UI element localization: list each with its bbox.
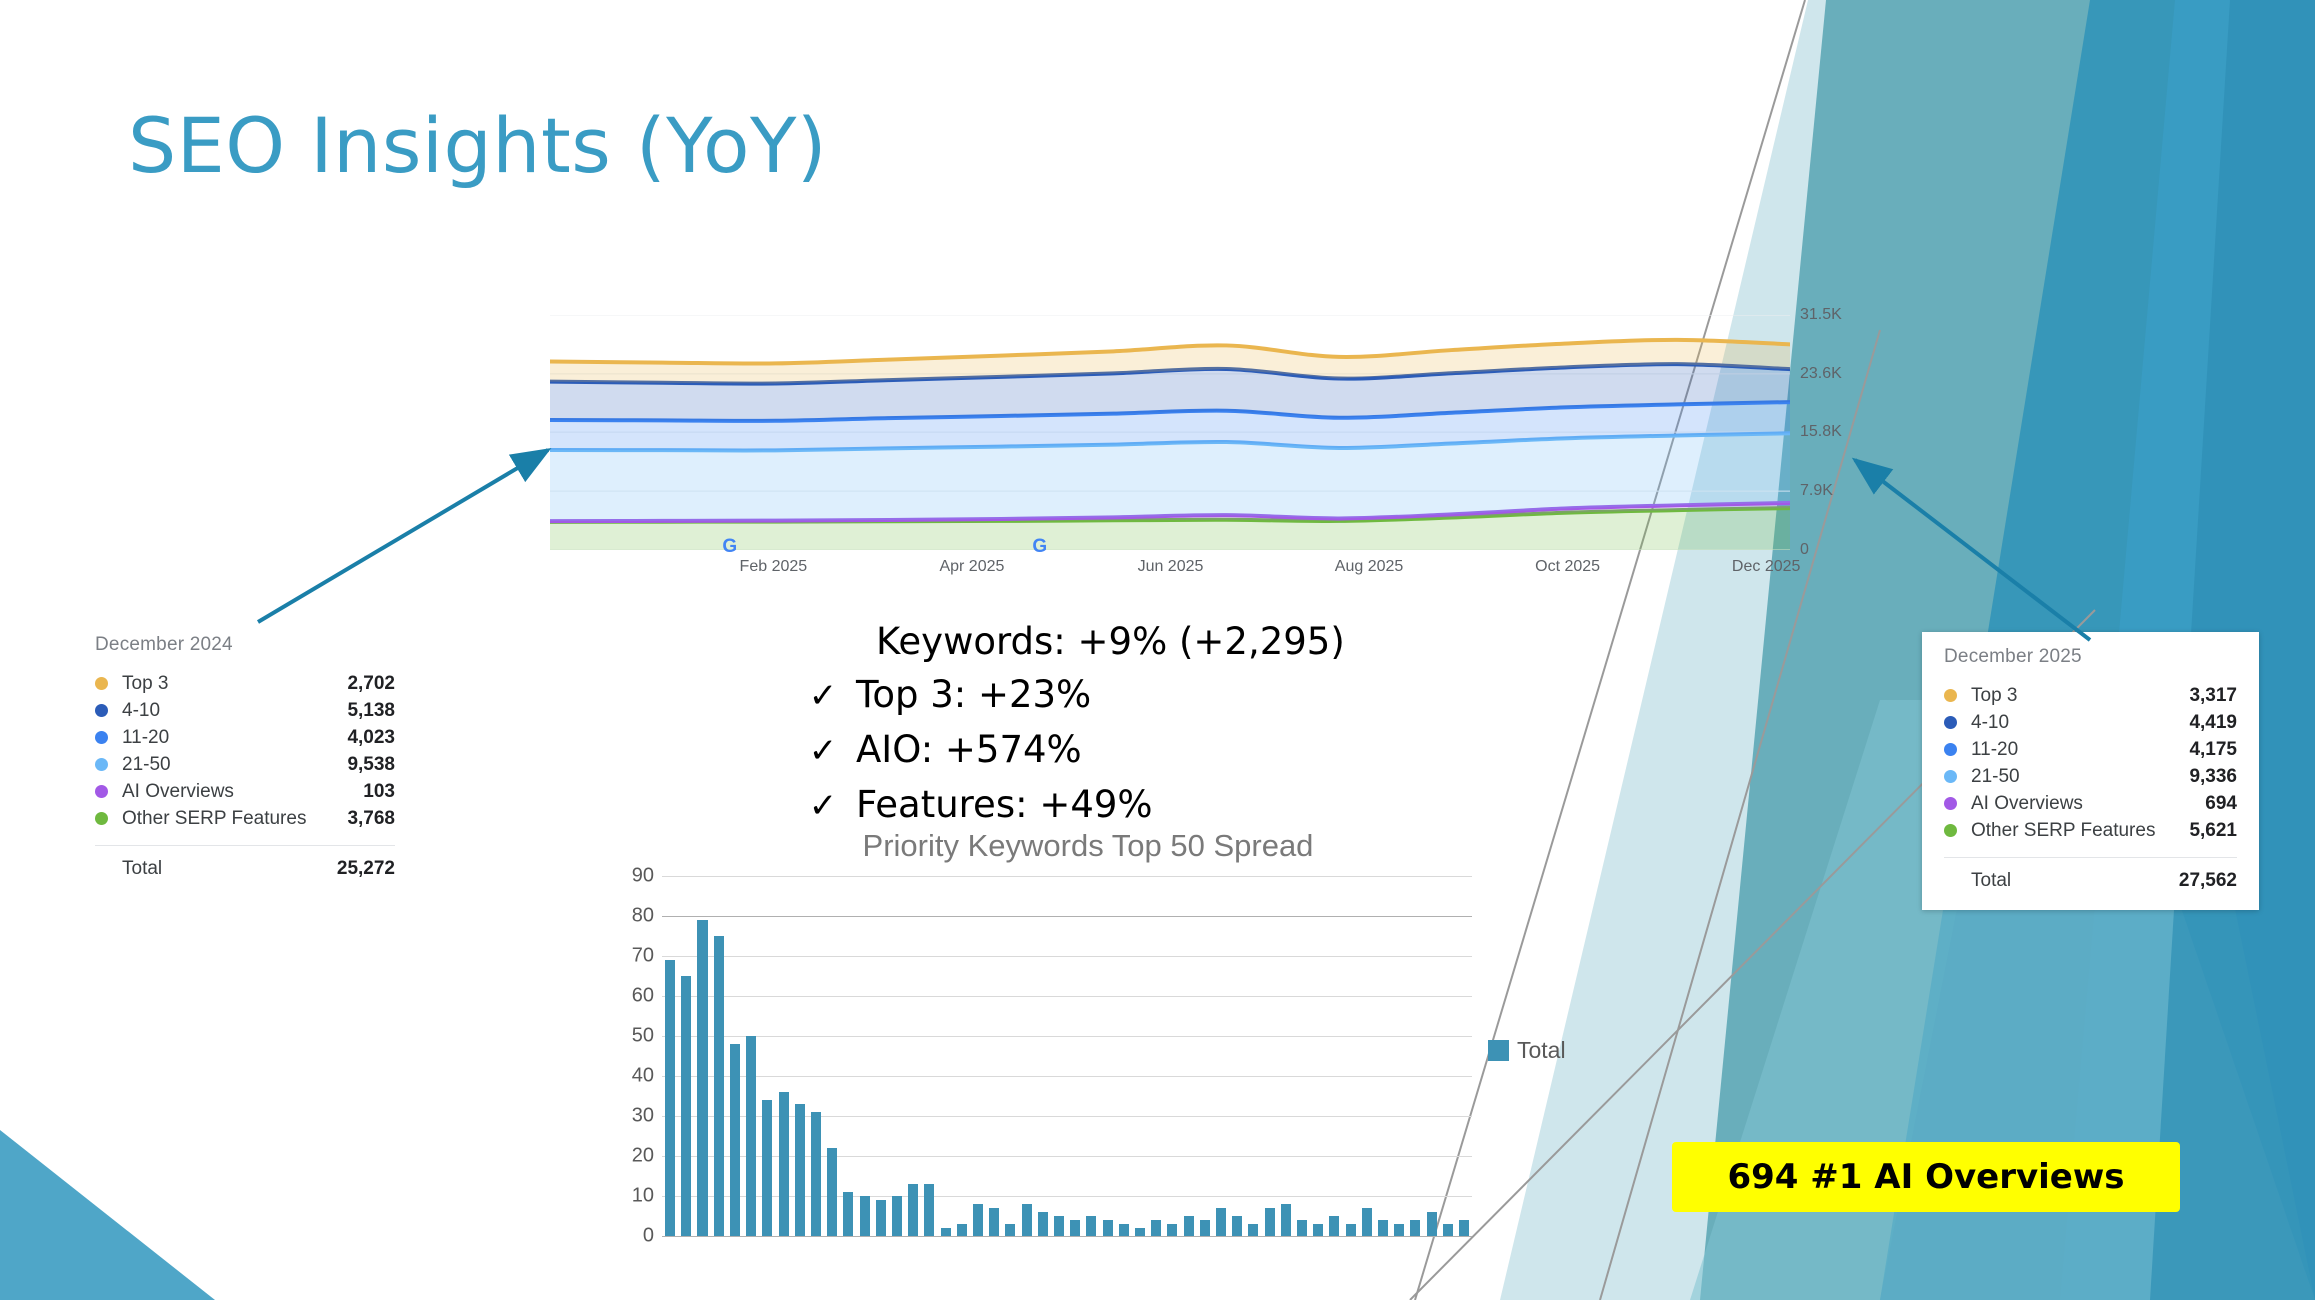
area-chart-svg	[550, 315, 1790, 550]
bar-chart-bar	[1281, 1204, 1291, 1236]
summary-item: ✓Features: +49%	[790, 778, 1430, 833]
bar-chart-bar	[1265, 1208, 1275, 1236]
bar-chart-bar	[1167, 1224, 1177, 1236]
bar-chart-y-tick: 60	[632, 985, 654, 1008]
bar-chart-bar-cell	[1359, 876, 1375, 1236]
summary-item-list: ✓Top 3: +23%✓AIO: +574%✓Features: +49%	[790, 668, 1430, 833]
bar-chart-bar-cell	[678, 876, 694, 1236]
area-chart-x-tick: Jun 2025	[1138, 558, 1204, 576]
bar-chart-bar-cell	[727, 876, 743, 1236]
bar-chart-bar-cell	[1132, 876, 1148, 1236]
bar-chart-bar	[1346, 1224, 1356, 1236]
bar-chart-bar-cell	[1310, 876, 1326, 1236]
bar-chart-bar-cell	[1424, 876, 1440, 1236]
area-chart-x-tick: Oct 2025	[1535, 558, 1600, 576]
legend-color-dot	[1944, 797, 1957, 810]
legend-left-rows: Top 32,7024-105,13811-204,02321-509,538A…	[95, 670, 395, 832]
bar-chart-bar	[746, 1036, 756, 1236]
bar-chart-bar	[860, 1196, 870, 1236]
bar-chart-bar	[908, 1184, 918, 1236]
bar-chart-bar-cell	[873, 876, 889, 1236]
legend-row: 21-509,336	[1944, 763, 2237, 790]
bar-chart-bar-cell	[824, 876, 840, 1236]
bar-chart-bar-cell	[840, 876, 856, 1236]
legend-color-dot	[95, 758, 108, 771]
area-chart-x-tick: Dec 2025	[1732, 558, 1801, 576]
area-chart-y-tick: 23.6K	[1800, 365, 1842, 383]
legend-row-value: 694	[2205, 794, 2237, 813]
legend-row-value: 103	[363, 782, 395, 801]
bar-chart-bar	[989, 1208, 999, 1236]
summary-item: ✓Top 3: +23%	[790, 668, 1430, 723]
area-chart-y-tick: 15.8K	[1800, 423, 1842, 441]
legend-row: AI Overviews694	[1944, 790, 2237, 817]
bg-diagonal-line-1	[1415, 0, 1805, 1300]
legend-color-dot	[95, 677, 108, 690]
bar-chart-bar	[1459, 1220, 1469, 1236]
bar-chart-bar	[1378, 1220, 1388, 1236]
legend-color-dot	[1944, 716, 1957, 729]
bar-chart-y-tick: 40	[632, 1065, 654, 1088]
legend-right-total-label: Total	[1971, 870, 2179, 892]
bar-chart-bar	[1232, 1216, 1242, 1236]
bar-chart-bar	[1054, 1216, 1064, 1236]
legend-label-total: Total	[1517, 1037, 1566, 1064]
legend-right-divider	[1944, 857, 2237, 858]
bar-chart-bar	[1313, 1224, 1323, 1236]
bar-chart-bar-cell	[1245, 876, 1261, 1236]
legend-left-title: December 2024	[95, 634, 395, 656]
summary-text-block: Keywords: +9% (+2,295) ✓Top 3: +23%✓AIO:…	[790, 615, 1430, 833]
bar-chart-bar-cell	[1181, 876, 1197, 1236]
bar-chart-bar-cell	[905, 876, 921, 1236]
bar-chart-gridline	[662, 1236, 1472, 1237]
legend-left-total-label: Total	[122, 858, 337, 880]
legend-right-rows: Top 33,3174-104,41911-204,17521-509,336A…	[1944, 682, 2237, 844]
bar-chart-plot-area	[662, 876, 1472, 1236]
legend-right-total-value: 27,562	[2179, 870, 2237, 892]
legend-row-label: 11-20	[122, 728, 347, 747]
bar-chart-bar	[957, 1224, 967, 1236]
legend-color-dot	[95, 812, 108, 825]
bar-chart-bar-cell	[694, 876, 710, 1236]
bar-chart-bar	[1070, 1220, 1080, 1236]
spacer	[95, 863, 108, 876]
legend-row-value: 4,419	[2189, 713, 2237, 732]
legend-row: 11-204,175	[1944, 736, 2237, 763]
bar-chart-bar	[973, 1204, 983, 1236]
bar-chart-y-tick: 80	[632, 904, 654, 927]
bar-chart-bar-cell	[921, 876, 937, 1236]
legend-row: Other SERP Features5,621	[1944, 817, 2237, 844]
check-icon: ✓	[790, 670, 856, 723]
bar-chart-bar	[1329, 1216, 1339, 1236]
bar-chart-y-tick: 70	[632, 944, 654, 967]
legend-row-value: 3,768	[347, 809, 395, 828]
spacer	[1944, 875, 1957, 888]
bar-chart-bar-cell	[1262, 876, 1278, 1236]
legend-left-total-value: 25,272	[337, 858, 395, 880]
bar-chart-bar-cell	[775, 876, 791, 1236]
bar-chart-bar-cell	[1456, 876, 1472, 1236]
bar-chart-bar-cell	[1099, 876, 1115, 1236]
legend-row: Top 33,317	[1944, 682, 2237, 709]
bar-chart-bar-cell	[1083, 876, 1099, 1236]
bar-chart-y-tick: 50	[632, 1024, 654, 1047]
legend-row-value: 4,175	[2189, 740, 2237, 759]
bar-chart-bar	[665, 960, 675, 1236]
bar-chart-bar	[795, 1104, 805, 1236]
bar-chart-bar-cell	[970, 876, 986, 1236]
bar-chart-bar-cell	[1407, 876, 1423, 1236]
bar-chart-y-axis: 0102030405060708090	[612, 876, 654, 1236]
bar-chart-bar	[1005, 1224, 1015, 1236]
bar-chart-bar	[924, 1184, 934, 1236]
bar-chart-bar-cell	[1213, 876, 1229, 1236]
bar-chart-bar-cell	[711, 876, 727, 1236]
bar-chart-bar	[779, 1092, 789, 1236]
highlight-callout-ai-overviews: 694 #1 AI Overviews	[1672, 1142, 2180, 1212]
bar-chart-bar-cell	[954, 876, 970, 1236]
bar-chart-bar	[730, 1044, 740, 1236]
bar-chart-bar-cell	[1326, 876, 1342, 1236]
bar-chart-bar-cell	[1391, 876, 1407, 1236]
legend-row-value: 3,317	[2189, 686, 2237, 705]
bar-chart-bar-cell	[986, 876, 1002, 1236]
google-update-marker-icon: G	[722, 536, 737, 558]
bar-chart-bar	[697, 920, 707, 1236]
legend-row-label: 4-10	[1971, 713, 2189, 732]
corner-shape-bottom-left	[0, 1130, 215, 1300]
bar-chart-bar	[681, 976, 691, 1236]
summary-item: ✓AIO: +574%	[790, 723, 1430, 778]
legend-swatch-total	[1488, 1040, 1509, 1061]
bar-chart-y-tick: 10	[632, 1184, 654, 1207]
legend-row-value: 2,702	[347, 674, 395, 693]
bar-chart-bar	[1151, 1220, 1161, 1236]
legend-row-label: Other SERP Features	[122, 809, 347, 828]
bar-chart-bar-cell	[1375, 876, 1391, 1236]
bar-chart-bar-cell	[1440, 876, 1456, 1236]
legend-row-label: 4-10	[122, 701, 347, 720]
bar-chart-bar	[1216, 1208, 1226, 1236]
area-chart-y-axis: 07.9K15.8K23.6K31.5K	[1800, 310, 1890, 560]
bar-chart-bars	[662, 876, 1472, 1236]
legend-row-value: 9,538	[347, 755, 395, 774]
legend-row-label: 21-50	[122, 755, 347, 774]
legend-row-label: Other SERP Features	[1971, 821, 2189, 840]
legend-left-divider	[95, 845, 395, 846]
summary-headline: Keywords: +9% (+2,295)	[790, 615, 1430, 668]
bar-chart-bar-cell	[1051, 876, 1067, 1236]
bar-chart-bar-cell	[1035, 876, 1051, 1236]
summary-item-label: Features: +49%	[856, 778, 1153, 831]
bar-chart-bar	[811, 1112, 821, 1236]
legend-row: Other SERP Features3,768	[95, 805, 395, 832]
area-chart-y-tick: 0	[1800, 541, 1809, 559]
bar-chart-y-tick: 0	[643, 1225, 654, 1248]
summary-item-label: Top 3: +23%	[856, 668, 1091, 721]
legend-left-total-row: Total 25,272	[95, 858, 395, 880]
bar-chart-bar-cell	[662, 876, 678, 1236]
area-chart-x-tick: Aug 2025	[1335, 558, 1404, 576]
bar-chart-bar	[1443, 1224, 1453, 1236]
legend-row: AI Overviews103	[95, 778, 395, 805]
legend-row-label: AI Overviews	[1971, 794, 2205, 813]
legend-row-label: 21-50	[1971, 767, 2189, 786]
legend-color-dot	[95, 731, 108, 744]
bar-chart-bar	[714, 936, 724, 1236]
area-chart-x-axis: Feb 2025Apr 2025Jun 2025Aug 2025Oct 2025…	[550, 558, 1790, 584]
legend-row: 21-509,538	[95, 751, 395, 778]
legend-row-label: 11-20	[1971, 740, 2189, 759]
bar-chart-bar	[1200, 1220, 1210, 1236]
legend-row: 4-104,419	[1944, 709, 2237, 736]
bar-chart-bar-cell	[1116, 876, 1132, 1236]
bar-chart-bar-cell	[1294, 876, 1310, 1236]
bar-chart-bar-cell	[792, 876, 808, 1236]
bar-chart-bar-cell	[1002, 876, 1018, 1236]
area-chart-y-tick: 31.5K	[1800, 306, 1842, 324]
bar-chart-bar-cell	[1197, 876, 1213, 1236]
slide-canvas: SEO Insights (YoY) Feb 2025Apr 2025Jun 2…	[0, 0, 2315, 1300]
legend-row: 11-204,023	[95, 724, 395, 751]
arrow-to-december-2025-table	[1855, 460, 2090, 640]
bar-chart-legend: Total	[1488, 1037, 1566, 1064]
bar-chart-bar	[1103, 1220, 1113, 1236]
bar-chart-bar-cell	[1067, 876, 1083, 1236]
bar-chart-bar	[1410, 1220, 1420, 1236]
legend-color-dot	[1944, 689, 1957, 702]
bar-chart-title: Priority Keywords Top 50 Spread	[838, 828, 1338, 864]
bar-chart-bar	[1119, 1224, 1129, 1236]
bar-chart-y-tick: 90	[632, 865, 654, 888]
bar-chart-y-tick: 30	[632, 1105, 654, 1128]
bar-chart-bar	[1038, 1212, 1048, 1236]
bar-chart-bar	[1184, 1216, 1194, 1236]
page-title: SEO Insights (YoY)	[128, 108, 827, 184]
bar-chart-bar	[827, 1148, 837, 1236]
legend-row-value: 5,138	[347, 701, 395, 720]
bar-chart-bar-cell	[1343, 876, 1359, 1236]
check-icon: ✓	[790, 725, 856, 778]
bar-chart-bar	[941, 1228, 951, 1236]
check-icon: ✓	[790, 780, 856, 833]
legend-row-value: 9,336	[2189, 767, 2237, 786]
legend-row-value: 4,023	[347, 728, 395, 747]
summary-item-label: AIO: +574%	[856, 723, 1082, 776]
legend-right-title: December 2025	[1944, 646, 2237, 668]
bar-chart-bar-cell	[856, 876, 872, 1236]
bar-chart-bar-cell	[1164, 876, 1180, 1236]
legend-row-label: AI Overviews	[122, 782, 363, 801]
arrow-to-area-chart	[258, 450, 548, 622]
bar-chart-bar-cell	[1278, 876, 1294, 1236]
area-chart	[550, 315, 1790, 550]
legend-row-label: Top 3	[122, 674, 347, 693]
area-chart-x-tick: Feb 2025	[740, 558, 808, 576]
bar-chart-bar	[1427, 1212, 1437, 1236]
bar-chart-bar	[1297, 1220, 1307, 1236]
bar-chart-bar	[1135, 1228, 1145, 1236]
legend-color-dot	[95, 785, 108, 798]
area-chart-y-tick: 7.9K	[1800, 482, 1833, 500]
bar-chart-bar-cell	[1148, 876, 1164, 1236]
bar-chart-bar-cell	[759, 876, 775, 1236]
legend-row: 4-105,138	[95, 697, 395, 724]
bar-chart-bar	[1248, 1224, 1258, 1236]
bar-chart-bar-cell	[808, 876, 824, 1236]
legend-right-total-row: Total 27,562	[1944, 870, 2237, 892]
bar-chart-bar	[892, 1196, 902, 1236]
legend-row-value: 5,621	[2189, 821, 2237, 840]
google-update-marker-icon: G	[1032, 536, 1047, 558]
bar-chart-bar-cell	[743, 876, 759, 1236]
bar-chart-bar	[762, 1100, 772, 1236]
area-chart-x-tick: Apr 2025	[939, 558, 1004, 576]
legend-table-december-2024: December 2024 Top 32,7024-105,13811-204,…	[95, 634, 395, 880]
bar-chart-y-tick: 20	[632, 1145, 654, 1168]
legend-color-dot	[1944, 770, 1957, 783]
legend-color-dot	[1944, 824, 1957, 837]
bar-chart-bar-cell	[1229, 876, 1245, 1236]
bar-chart-bar-cell	[1018, 876, 1034, 1236]
legend-table-december-2025: December 2025 Top 33,3174-104,41911-204,…	[1922, 632, 2259, 910]
bar-chart-bar	[1022, 1204, 1032, 1236]
bar-chart-bar-cell	[937, 876, 953, 1236]
legend-row-label: Top 3	[1971, 686, 2189, 705]
bar-chart: 0102030405060708090	[612, 876, 1472, 1236]
legend-row: Top 32,702	[95, 670, 395, 697]
legend-color-dot	[95, 704, 108, 717]
bar-chart-bar	[1394, 1224, 1404, 1236]
bar-chart-bar	[1086, 1216, 1096, 1236]
bar-chart-bar	[843, 1192, 853, 1236]
bar-chart-bar	[1362, 1208, 1372, 1236]
bar-chart-bar-cell	[889, 876, 905, 1236]
bar-chart-bar	[876, 1200, 886, 1236]
legend-color-dot	[1944, 743, 1957, 756]
